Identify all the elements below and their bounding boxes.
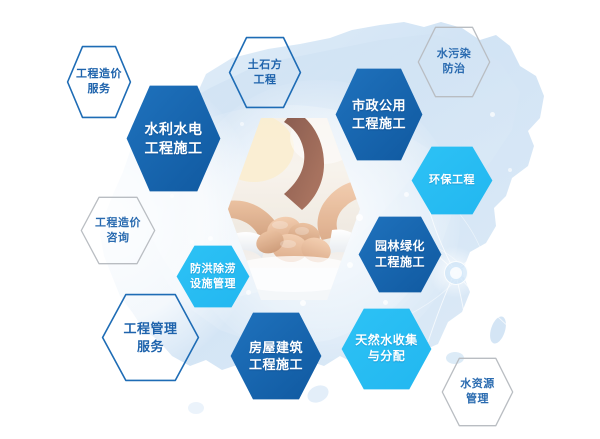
hexagon-label: 水利水电 工程施工	[126, 120, 221, 157]
hexagon-shuiziyuan-guanli[interactable]: 水资源 管理	[441, 357, 514, 427]
hexagon-label: 水资源 管理	[441, 377, 514, 406]
hexagon-tushifang-gongcheng[interactable]: 土石方 工程	[228, 36, 302, 109]
hexagon-label: 园林绿化 工程施工	[358, 239, 442, 271]
hexagon-gongcheng-zaojia-zixun[interactable]: 工程造价 咨询	[80, 196, 156, 265]
bokeh-dot	[490, 112, 495, 117]
hexagon-label: 水污染 防治	[417, 47, 491, 76]
hexagon-label: 防洪除涝 设施管理	[176, 262, 250, 291]
bokeh-dot	[208, 236, 213, 241]
hexagon-label: 天然水收集 与分配	[341, 333, 432, 365]
hexagon-shizheng-gongyong[interactable]: 市政公用 工程施工	[335, 68, 423, 161]
hexagon-label: 工程造价 服务	[66, 67, 132, 96]
bokeh-dot	[404, 192, 409, 197]
hexagon-tianranshui-shouji[interactable]: 天然水收集 与分配	[341, 308, 432, 390]
hexagon-label: 土石方 工程	[228, 58, 302, 87]
infographic-canvas: 工程造价 服务土石方 工程水利水电 工程施工市政公用 工程施工水污染 防治环保工…	[0, 0, 600, 439]
hexagon-label: 市政公用 工程施工	[335, 97, 423, 131]
hexagon-label: 工程管理 服务	[101, 320, 200, 354]
hexagon-label: 工程造价 咨询	[80, 216, 156, 245]
hexagon-yuanlin-lvhua[interactable]: 园林绿化 工程施工	[358, 216, 442, 293]
hexagon-huanbao-gongcheng[interactable]: 环保工程	[411, 146, 493, 215]
hexagon-shuili-shuidian[interactable]: 水利水电 工程施工	[126, 85, 221, 192]
bokeh-dot	[170, 194, 174, 198]
network-hub-inner-node	[449, 266, 463, 280]
bokeh-dot	[372, 408, 378, 414]
bokeh-dot	[383, 300, 388, 305]
hexagon-shuiwuran-fangzhi[interactable]: 水污染 防治	[417, 26, 491, 98]
hexagon-gongcheng-zaojia-fuwu[interactable]: 工程造价 服务	[66, 45, 132, 119]
hexagon-fanghong-chulao[interactable]: 防洪除涝 设施管理	[176, 245, 250, 308]
hexagon-label: 环保工程	[411, 173, 493, 188]
bokeh-dot	[466, 316, 471, 321]
hexagon-label: 房屋建筑 工程施工	[230, 339, 322, 373]
hexagon-fangwu-jianzhu[interactable]: 房屋建筑 工程施工	[230, 312, 322, 400]
bokeh-dot	[402, 396, 406, 400]
bokeh-dot	[300, 300, 306, 306]
bokeh-dot	[190, 240, 194, 244]
bokeh-dot	[508, 168, 512, 172]
